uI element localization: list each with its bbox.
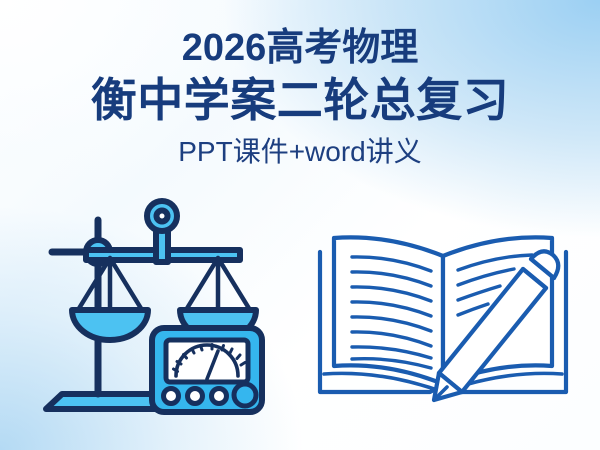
title-line-1: 2026高考物理: [0, 26, 600, 70]
open-book-illustration: [310, 216, 576, 422]
meter-knob-3: [212, 389, 227, 404]
left-pan-bowl: [72, 310, 148, 340]
poster-canvas: 2026高考物理 衡中学案二轮总复习 PPT课件+word讲义: [0, 0, 600, 450]
left-pan-strings: [78, 258, 142, 310]
pivot-hole: [157, 211, 168, 222]
title-line-2: 衡中学案二轮总复习: [0, 72, 600, 128]
title-line-3: PPT课件+word讲义: [0, 134, 600, 170]
stand-base: [46, 394, 166, 409]
meter-knob-large: [234, 384, 256, 406]
meter-knob-1: [164, 389, 179, 404]
meter-knob-2: [188, 389, 203, 404]
right-pan-strings: [186, 258, 250, 310]
title-block: 2026高考物理 衡中学案二轮总复习 PPT课件+word讲义: [0, 0, 600, 170]
balance-scale-svg: [28, 198, 268, 430]
balance-scale-illustration: [28, 198, 268, 430]
open-book-svg: [310, 216, 576, 422]
